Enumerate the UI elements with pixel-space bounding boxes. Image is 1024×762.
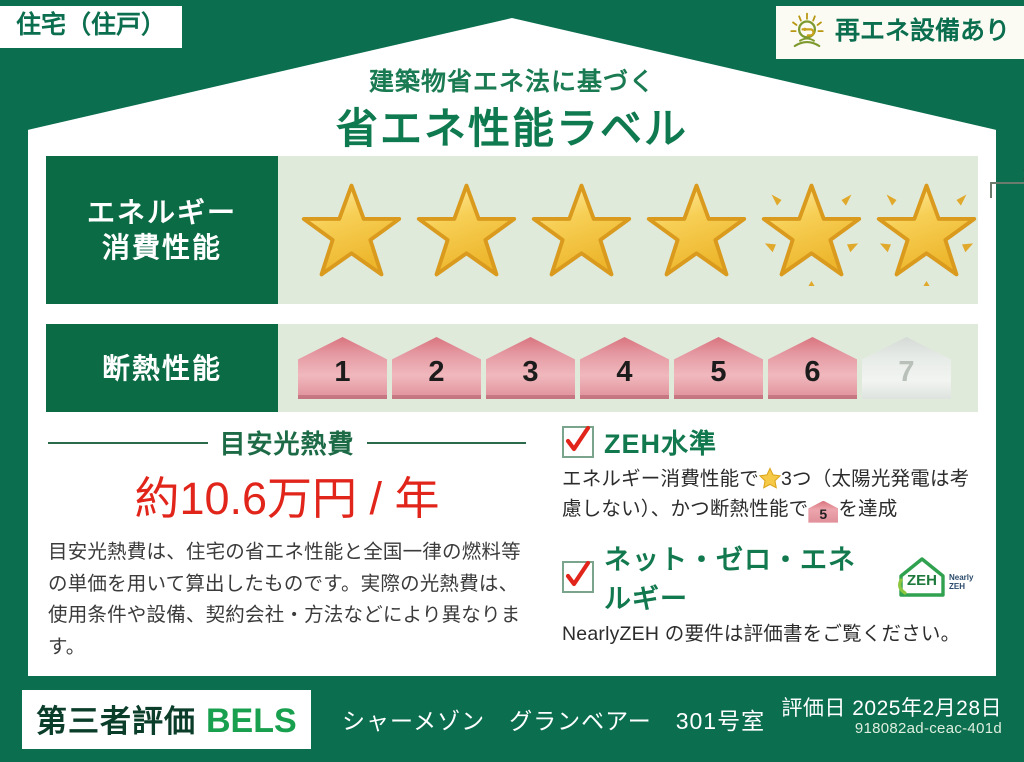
insulation-level-7: 7 bbox=[862, 337, 951, 399]
svg-text:ZEH: ZEH bbox=[907, 572, 937, 589]
insulation-level-5: 5 bbox=[674, 337, 763, 399]
net-zero-energy-checkbox[interactable] bbox=[562, 561, 594, 593]
zeh-standard-checkbox[interactable] bbox=[562, 426, 594, 458]
inline-insulation-level-number: 5 bbox=[808, 501, 838, 527]
label-title: 省エネ性能ラベル bbox=[0, 95, 1024, 156]
energy-star-rating bbox=[296, 174, 982, 286]
net-zero-energy-description: NearlyZEH の要件は評価書をご覧ください。 bbox=[562, 620, 974, 650]
insulation-level-number: 5 bbox=[710, 358, 726, 399]
zeh-standard-title-row: ZEH水準 bbox=[562, 422, 974, 461]
energy-performance-label: 住宅（住戸） 再エネ設備あり bbox=[0, 0, 1024, 762]
energy-star-solar bbox=[756, 174, 867, 286]
zeh-desc-part1: エネルギー消費性能で bbox=[562, 468, 759, 490]
insulation-level-number: 7 bbox=[898, 358, 914, 399]
inline-star-icon bbox=[759, 467, 781, 489]
insulation-scale-panel: 1234567 bbox=[278, 324, 978, 412]
evaluation-date: 評価日 2025年2月28日 bbox=[781, 692, 1002, 722]
insulation-level-number: 2 bbox=[428, 358, 444, 399]
solar-annotation-bracket bbox=[990, 182, 1024, 198]
energy-performance-row: エネルギー 消費性能 太陽光発電(自家消費)分 bbox=[46, 156, 978, 304]
energy-label-line1: エネルギー bbox=[87, 195, 237, 230]
property-name: シャーメゾン グランベアー 301号室 bbox=[342, 702, 765, 736]
label-subtitle: 建築物省エネ法に基づく bbox=[0, 62, 1024, 98]
insulation-performance-row-label: 断熱性能 bbox=[46, 324, 278, 412]
insulation-level-6: 6 bbox=[768, 337, 857, 399]
footer-bar: 第三者評価 BELS シャーメゾン グランベアー 301号室 評価日 2025年… bbox=[0, 678, 1024, 762]
net-zero-energy-title: ネット・ゼロ・エネルギー bbox=[604, 538, 880, 616]
energy-star bbox=[296, 174, 407, 286]
renewable-energy-badge-label: 再エネ設備あり bbox=[835, 18, 1010, 46]
energy-cost-value: 約10.6万円 / 年 bbox=[48, 462, 526, 527]
zeh-desc-part3: を達成 bbox=[838, 498, 897, 520]
energy-star bbox=[641, 174, 752, 286]
solar-annotation-label: 太陽光発電(自家消費)分 bbox=[980, 162, 1024, 183]
insulation-level-2: 2 bbox=[392, 337, 481, 399]
insulation-performance-row: 断熱性能 1234567 bbox=[46, 324, 978, 412]
zeh-standard-item: ZEH水準 エネルギー消費性能で3つ（太陽光発電は考慮しない）、かつ断熱性能で5… bbox=[562, 422, 974, 524]
net-zero-energy-title-row: ネット・ゼロ・エネルギー ZEH Nearly ZEH bbox=[562, 538, 974, 616]
energy-star bbox=[526, 174, 637, 286]
energy-performance-row-label: エネルギー 消費性能 bbox=[46, 156, 278, 304]
building-type-tag-label: 住宅（住戸） bbox=[16, 11, 166, 39]
energy-cost-heading: 目安光熱費 bbox=[48, 424, 526, 461]
insulation-level-4: 4 bbox=[580, 337, 669, 399]
insulation-level-number: 1 bbox=[334, 358, 350, 399]
insulation-level-3: 3 bbox=[486, 337, 575, 399]
net-zero-energy-item: ネット・ゼロ・エネルギー ZEH Nearly ZEH NearlyZEH の要… bbox=[562, 538, 974, 650]
svg-text:Nearly: Nearly bbox=[949, 573, 974, 582]
heading-rule-right bbox=[367, 442, 527, 444]
energy-star bbox=[411, 174, 522, 286]
bels-certification-plate: 第三者評価 BELS bbox=[22, 690, 311, 749]
building-type-tag: 住宅（住戸） bbox=[0, 6, 182, 48]
insulation-level-1: 1 bbox=[298, 337, 387, 399]
renewable-energy-badge: 再エネ設備あり bbox=[776, 6, 1024, 59]
heading-rule-left bbox=[48, 442, 208, 444]
energy-cost-note: 目安光熱費は、住宅の省エネ性能と全国一律の燃料等の単価を用いて算出したものです。… bbox=[48, 537, 528, 663]
energy-label-line2: 消費性能 bbox=[102, 230, 222, 265]
zeh-standard-description: エネルギー消費性能で3つ（太陽光発電は考慮しない）、かつ断熱性能で5を達成 bbox=[562, 465, 974, 524]
solar-sun-icon bbox=[786, 11, 828, 53]
insulation-label-text: 断熱性能 bbox=[102, 351, 222, 386]
insulation-level-number: 3 bbox=[522, 358, 538, 399]
bels-logo-text: BELS bbox=[206, 702, 297, 741]
energy-cost-heading-label: 目安光熱費 bbox=[220, 424, 355, 461]
zeh-logo-icon: ZEH Nearly ZEH bbox=[896, 554, 974, 600]
bels-japanese-label: 第三者評価 bbox=[36, 696, 196, 741]
insulation-level-number: 6 bbox=[804, 358, 820, 399]
energy-star-solar bbox=[871, 174, 982, 286]
svg-text:ZEH: ZEH bbox=[949, 582, 965, 591]
inline-insulation-level-icon: 5 bbox=[808, 501, 838, 523]
insulation-level-number: 4 bbox=[616, 358, 632, 399]
zeh-criteria-block: ZEH水準 エネルギー消費性能で3つ（太陽光発電は考慮しない）、かつ断熱性能で5… bbox=[562, 422, 974, 656]
evaluation-id: 918082ad-ceac-401d bbox=[855, 720, 1002, 737]
energy-star-panel: 太陽光発電(自家消費)分 bbox=[278, 156, 978, 304]
insulation-level-scale: 1234567 bbox=[298, 337, 951, 399]
zeh-standard-title: ZEH水準 bbox=[604, 422, 717, 461]
